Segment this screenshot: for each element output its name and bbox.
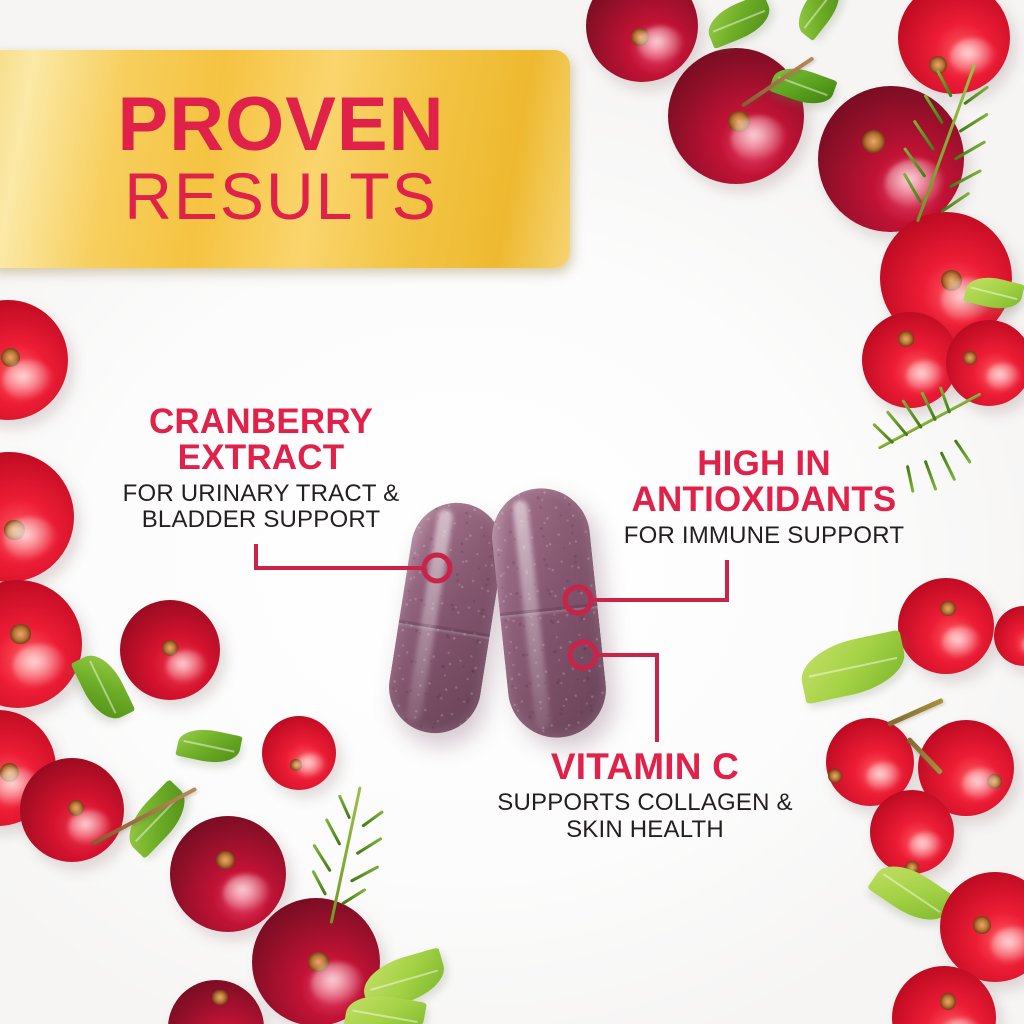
callout-heading: CRANBERRY EXTRACT — [96, 404, 426, 477]
herb-sprig — [860, 42, 1024, 251]
cranberry-berry — [994, 606, 1024, 666]
callout-heading: VITAMIN C — [480, 748, 810, 786]
cranberry-leaf — [702, 0, 776, 49]
cranberry-berry — [168, 980, 264, 1024]
callout-subtext: FOR IMMUNE SUPPORT — [578, 523, 950, 549]
cranberry-leaf — [175, 724, 242, 768]
cranberry-berry — [870, 790, 954, 874]
cranberry-berry — [0, 580, 82, 708]
callout-subtext: SUPPORTS COLLAGEN & SKIN HEALTH — [480, 790, 810, 843]
infographic-canvas: PROVEN RESULTS CRANBERRY EXTRACT FOR URI… — [0, 0, 1024, 1024]
cranberry-berry — [586, 0, 698, 82]
callout-vitamin-c: VITAMIN C SUPPORTS COLLAGEN & SKIN HEALT… — [480, 748, 810, 843]
cranberry-berry — [0, 452, 74, 582]
banner-subtitle: RESULTS — [124, 163, 438, 229]
cranberry-berry — [120, 600, 220, 700]
proven-results-banner: PROVEN RESULTS — [0, 50, 570, 268]
cranberry-berry — [940, 872, 1024, 982]
cranberry-leaf — [789, 0, 848, 41]
callout-cranberry-extract: CRANBERRY EXTRACT FOR URINARY TRACT & BL… — [96, 404, 426, 534]
banner-title: PROVEN — [118, 89, 445, 162]
cranberry-leaf — [796, 630, 911, 705]
herb-sprig — [278, 768, 435, 945]
callout-subtext: FOR URINARY TRACT & BLADDER SUPPORT — [96, 481, 426, 534]
cranberry-berry — [170, 816, 286, 932]
berry-stem — [887, 698, 944, 727]
callout-heading: HIGH IN ANTIOXIDANTS — [578, 446, 950, 519]
cranberry-berry — [0, 300, 68, 420]
cranberry-berry — [898, 578, 994, 674]
callout-high-in-antioxidants: HIGH IN ANTIOXIDANTS FOR IMMUNE SUPPORT — [578, 446, 950, 549]
cranberry-berry — [20, 758, 124, 862]
